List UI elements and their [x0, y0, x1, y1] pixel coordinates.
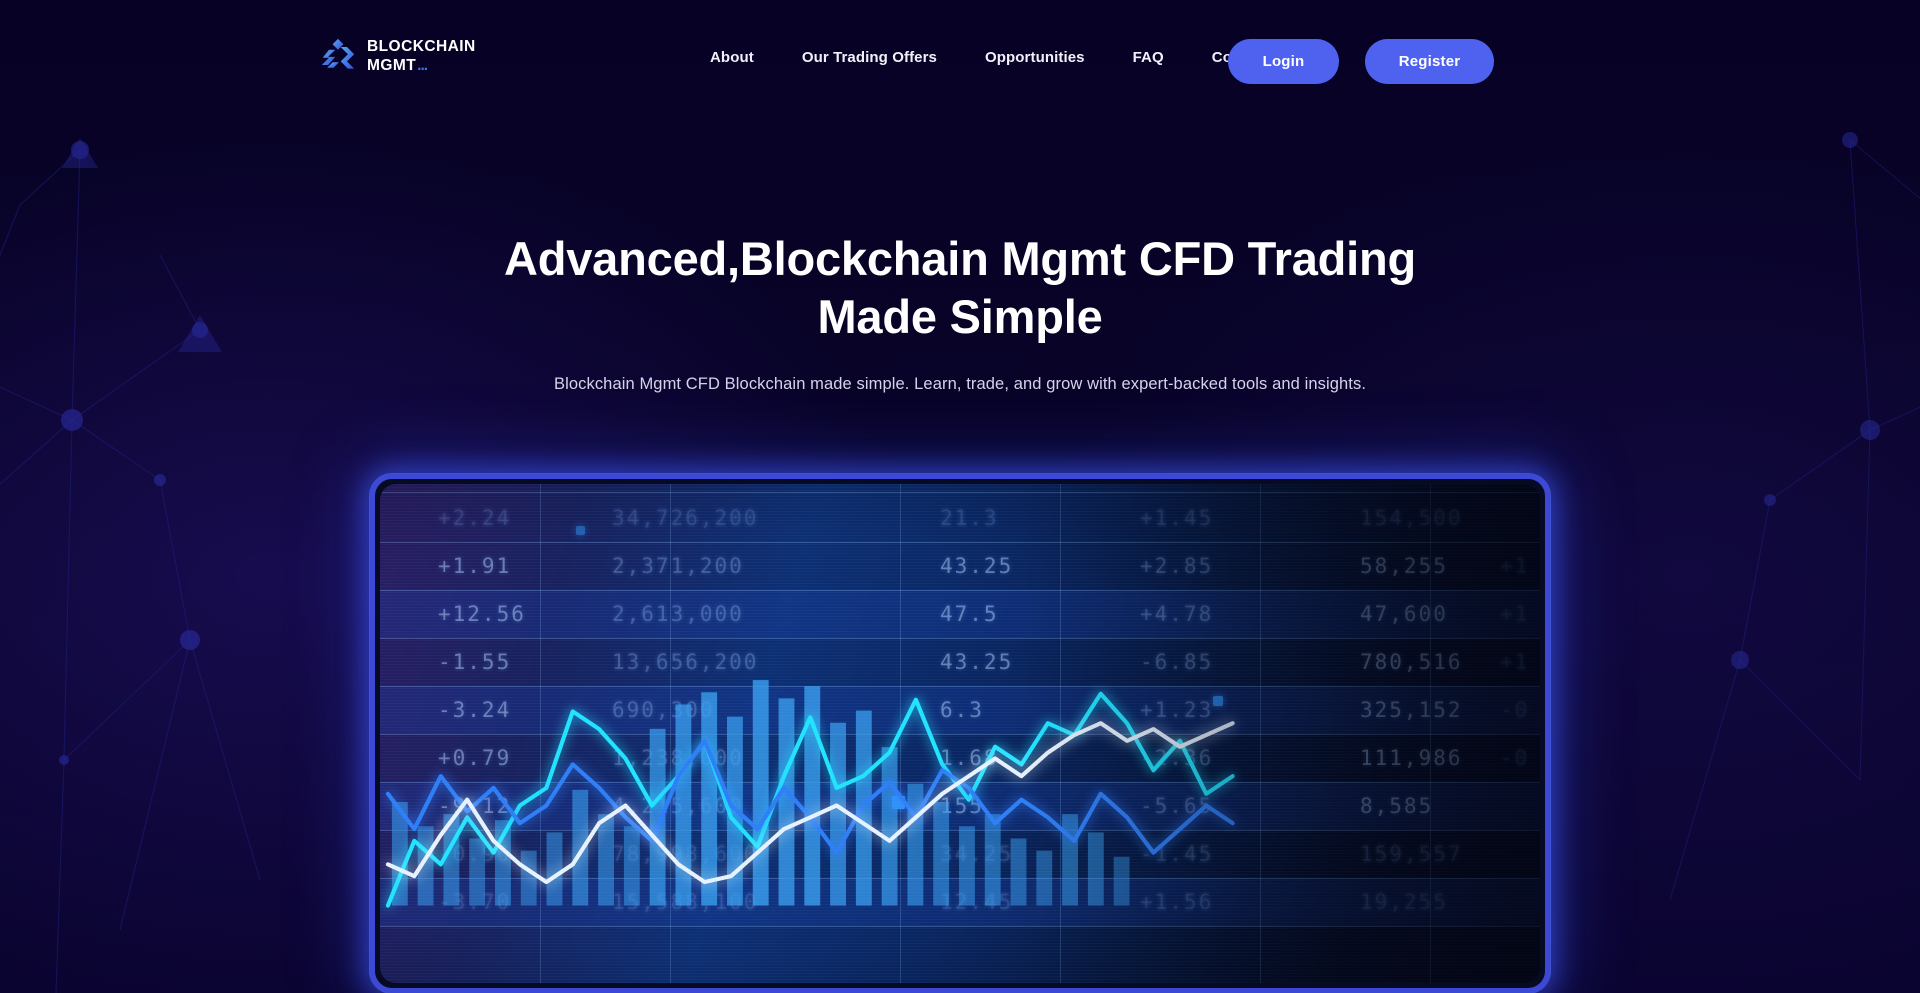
brand-line-2: MGMT...: [367, 58, 476, 74]
hero-page: BLOCKCHAIN MGMT... About Our Trading Off…: [0, 0, 1920, 993]
page-subtitle: Blockchain Mgmt CFD Blockchain made simp…: [0, 375, 1920, 394]
site-header: BLOCKCHAIN MGMT... About Our Trading Off…: [0, 0, 1920, 108]
panel-inner: +2.2434,726,20021.3+1.45154,500+1.912,37…: [380, 484, 1540, 983]
nav-item-faq[interactable]: FAQ: [1109, 43, 1188, 72]
login-button[interactable]: Login: [1228, 39, 1339, 84]
nav-item-trading-offers[interactable]: Our Trading Offers: [778, 43, 961, 72]
hero-chart-panel: +2.2434,726,20021.3+1.45154,500+1.912,37…: [370, 474, 1550, 993]
brand-wordmark: BLOCKCHAIN MGMT...: [367, 39, 476, 73]
nav-item-about[interactable]: About: [686, 43, 778, 72]
brand-line-2-text: MGMT: [367, 58, 416, 74]
brand-logo[interactable]: BLOCKCHAIN MGMT...: [320, 38, 476, 74]
hero-section: Advanced,Blockchain Mgmt CFD Trading Mad…: [0, 230, 1920, 394]
register-button[interactable]: Register: [1365, 39, 1494, 84]
page-title: Advanced,Blockchain Mgmt CFD Trading Mad…: [440, 230, 1480, 347]
header-actions: Login Register: [1228, 39, 1494, 84]
line-series: [380, 484, 1540, 983]
nav-item-opportunities[interactable]: Opportunities: [961, 43, 1109, 72]
brand-dots: ...: [417, 58, 427, 74]
blockchain-logo-icon: [320, 38, 356, 74]
main-navigation: About Our Trading Offers Opportunities F…: [686, 43, 1292, 72]
panel-glow-frame: +2.2434,726,20021.3+1.45154,500+1.912,37…: [370, 474, 1550, 993]
brand-line-1: BLOCKCHAIN: [367, 39, 476, 55]
